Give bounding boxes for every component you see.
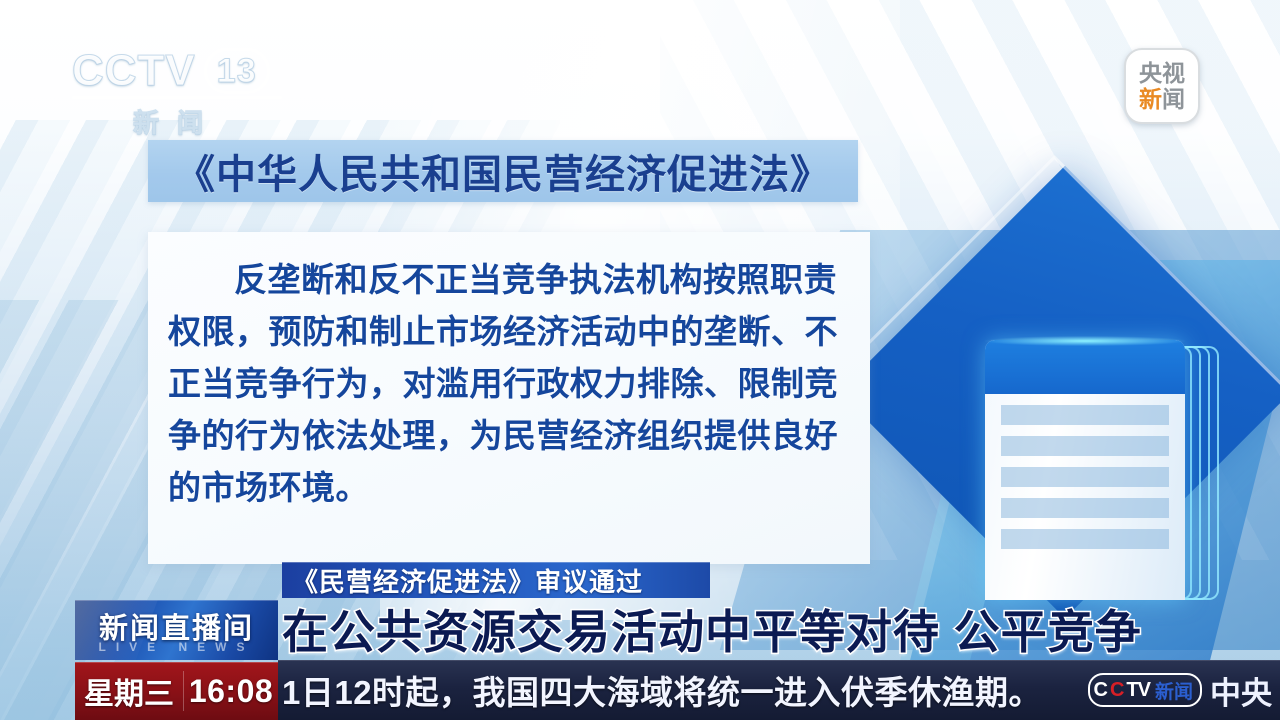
datetime-strip: 星期三 16:08	[75, 662, 278, 720]
app-logo-line-1: 央视	[1139, 62, 1185, 85]
lower-third-kicker-bar: 《民营经济促进法》审议通过	[282, 562, 710, 598]
cctv13-wordmark: CCTV 13	[72, 48, 282, 94]
broadcast-screen: CCTV 13 新闻 央视 新闻 《中华人民共和国民营经济促进法》 反垄断和反不…	[0, 0, 1280, 720]
cctv13-underline	[72, 96, 282, 99]
slide-title: 《中华人民共和国民营经济促进法》	[175, 142, 831, 200]
cctv13-subtitle: 新闻	[72, 103, 282, 140]
clock-label: 16:08	[184, 673, 278, 710]
cctv-logo-char-1: C	[1094, 679, 1107, 702]
lower-third-kicker-text: 《民营经济促进法》审议通过	[292, 562, 643, 599]
program-badge: 新闻直播间 LIVE NEWS	[75, 600, 278, 660]
document-text-line	[1001, 529, 1169, 549]
cctv-logo-char-2: C	[1110, 679, 1123, 702]
program-name-english: LIVE NEWS	[75, 640, 278, 654]
document-text-line	[1001, 436, 1169, 456]
document-text-line	[1001, 498, 1169, 518]
cctv-logo-chinese: 新闻	[1155, 677, 1193, 704]
news-ticker-text: 1日12时起，我国四大海域将统一进入伏季休渔期。	[282, 666, 1042, 714]
app-logo-char-wen: 闻	[1162, 86, 1185, 112]
cctv-logo-char-3: TV	[1126, 679, 1150, 702]
news-ticker-bar: 1日12时起，我国四大海域将统一进入伏季休渔期。 CCTV 新闻 中央	[278, 660, 1280, 720]
cctv13-letters: CCTV	[72, 48, 196, 94]
document-header-bar	[985, 340, 1185, 394]
cctv-news-logo: CCTV 新闻	[1088, 673, 1202, 707]
ticker-trailing-text: 中央	[1210, 668, 1272, 713]
document-glow	[985, 336, 1185, 346]
cctv-news-app-logo: 央视 新闻	[1124, 48, 1200, 124]
lower-third-headline-text: 在公共资源交易活动中平等对待 公平竞争	[282, 596, 1142, 662]
cctv13-number: 13	[204, 48, 270, 94]
document-page-icon	[985, 340, 1185, 600]
slide-body-text: 反垄断和反不正当竞争执法机构按照职责权限，预防和制止市场经济活动中的垄断、不正当…	[168, 254, 850, 514]
cctv13-watermark: CCTV 13 新闻	[72, 48, 282, 138]
slide-body-card: 反垄断和反不正当竞争执法机构按照职责权限，预防和制止市场经济活动中的垄断、不正当…	[148, 232, 870, 564]
document-text-line	[1001, 405, 1169, 425]
slide-title-band: 《中华人民共和国民营经济促进法》	[148, 140, 858, 202]
ticker-brand-area: CCTV 新闻 中央	[1088, 660, 1272, 720]
app-logo-line-2: 新闻	[1139, 88, 1185, 111]
app-logo-char-xin: 新	[1139, 86, 1162, 112]
document-text-line	[1001, 467, 1169, 487]
lower-third-headline-area: 在公共资源交易活动中平等对待 公平竞争	[282, 600, 1272, 658]
weekday-label: 星期三	[75, 669, 183, 713]
